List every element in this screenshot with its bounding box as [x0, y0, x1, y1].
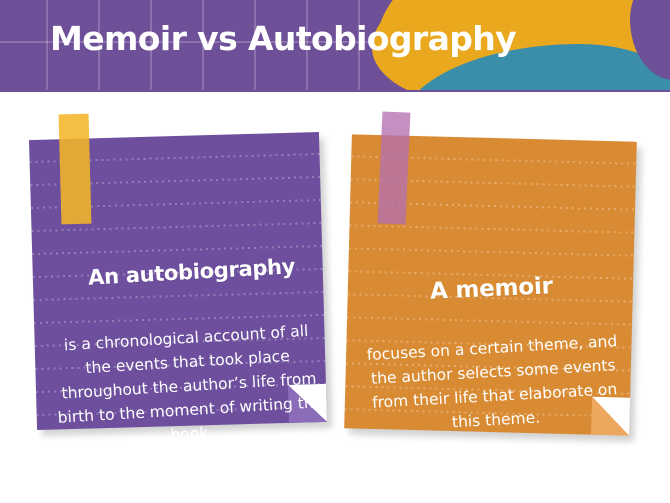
card-memoir-title: A memoir [429, 273, 553, 305]
card-memoir-body: focuses on a certain theme, and the auth… [364, 329, 625, 439]
card-autobiography-body: is a chronological account of all the ev… [53, 318, 326, 454]
mauve-tape-icon [378, 111, 411, 224]
content-area: An autobiography is a chronological acco… [0, 92, 670, 503]
header-banner: Memoir vs Autobiography [0, 0, 670, 92]
yellow-tape-icon [59, 114, 92, 225]
infographic-canvas: Memoir vs Autobiography An autobiography… [0, 0, 670, 503]
page-title: Memoir vs Autobiography [50, 19, 516, 58]
